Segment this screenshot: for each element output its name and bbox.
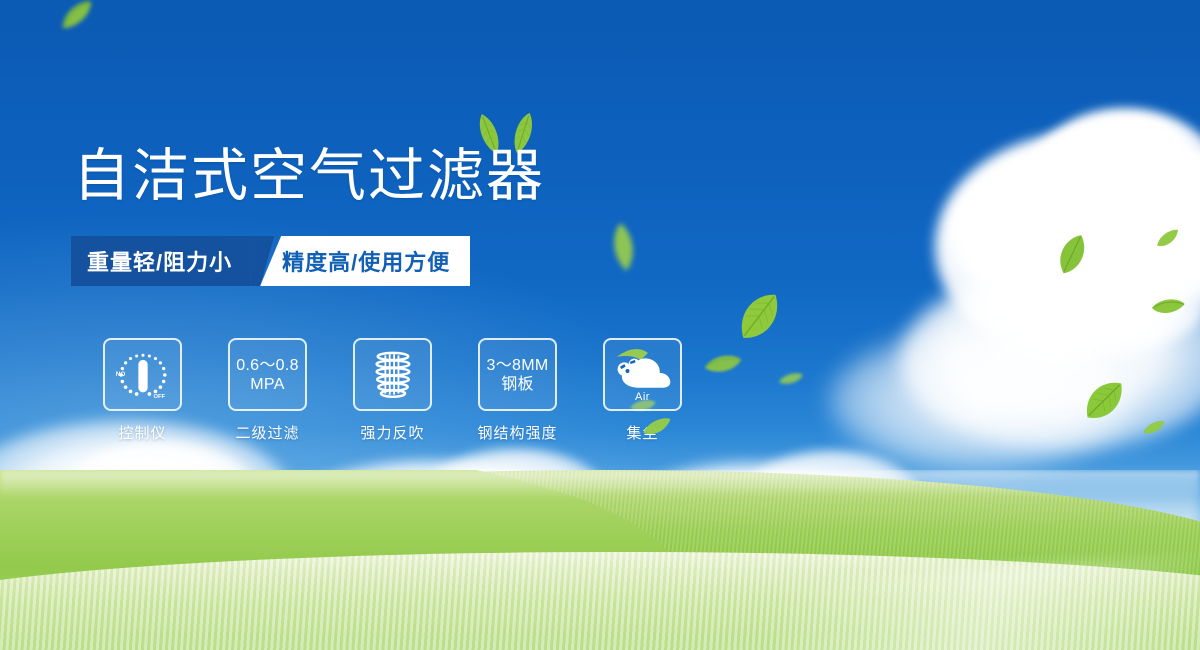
feature-label: 强力反吹: [360, 422, 424, 443]
banner-stage: 自洁式空气过滤器 重量轻/阻力小 精度高/使用方便: [0, 0, 1200, 650]
svg-text:NO: NO: [115, 371, 125, 378]
feature-item-blowback[interactable]: 强力反吹: [330, 338, 455, 443]
steel-thickness: 3〜8MM: [487, 356, 549, 375]
tagline-left: 重量轻/阻力小: [71, 236, 250, 286]
tagline-right: 精度高/使用方便: [260, 236, 470, 286]
feature-item-secondary-filter[interactable]: 0.6〜0.8 MPA 二级过滤: [205, 338, 330, 443]
feature-label: 二级过滤: [235, 422, 299, 443]
feature-box: 3〜8MM 钢板: [478, 338, 557, 411]
gauge-icon: NO OFF: [114, 348, 172, 402]
pleated-filter-icon: [370, 351, 416, 399]
steel-material: 钢板: [501, 375, 534, 394]
feature-label: 钢结构强度: [477, 422, 557, 443]
feature-list: NO OFF 控制仪 0.6〜0.8 MPA 二级过滤: [80, 338, 705, 443]
cloud-air-icon: [612, 347, 674, 395]
grass-field: [0, 470, 1200, 650]
feature-box: [353, 338, 432, 411]
pressure-unit: MPA: [250, 375, 284, 394]
grass-edge-glow: [0, 470, 1200, 498]
feature-box: Air: [603, 338, 682, 411]
air-label: Air: [605, 391, 680, 403]
tagline-bar: 重量轻/阻力小 精度高/使用方便: [71, 236, 470, 286]
pressure-value: 0.6〜0.8: [236, 356, 299, 375]
feature-item-steel-structure[interactable]: 3〜8MM 钢板 钢结构强度: [455, 338, 580, 443]
leaf-icon: [605, 221, 640, 274]
feature-box: NO OFF: [103, 338, 182, 411]
page-title: 自洁式空气过滤器: [73, 143, 545, 209]
feature-label: 控制仪: [118, 422, 166, 443]
feature-box: 0.6〜0.8 MPA: [228, 338, 307, 411]
leaf-icon: [778, 371, 805, 387]
svg-text:OFF: OFF: [153, 394, 165, 400]
feature-item-controller[interactable]: NO OFF 控制仪: [80, 338, 205, 443]
